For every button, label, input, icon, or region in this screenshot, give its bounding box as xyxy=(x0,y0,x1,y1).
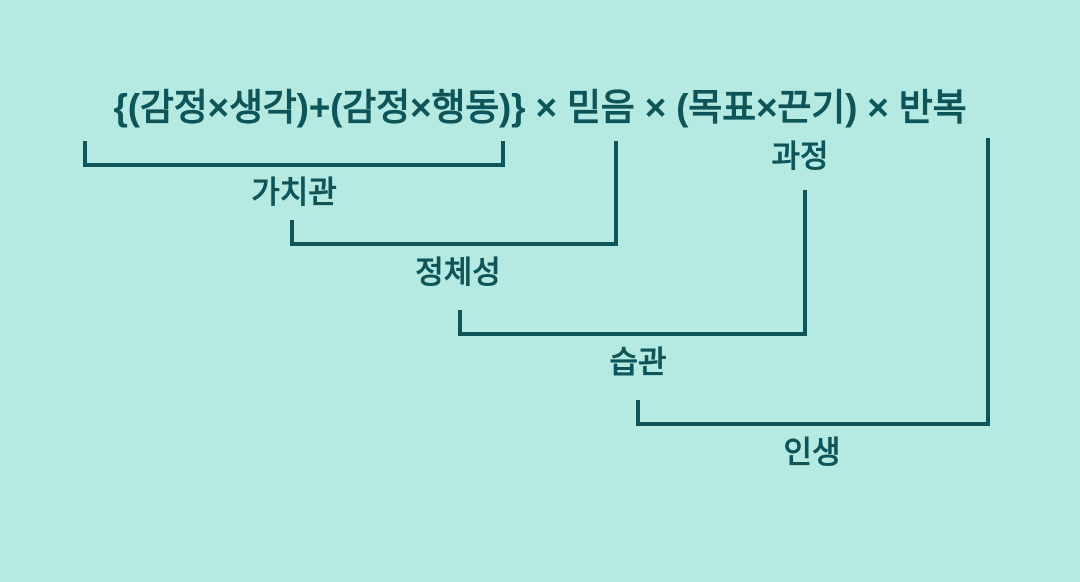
node-label-jeongcheseong: 정체성 xyxy=(415,256,501,290)
node-label-gwajeong: 과정 xyxy=(771,140,828,174)
bracket-lines-layer xyxy=(0,0,1080,582)
bracket-jeongcheseong xyxy=(292,143,616,244)
bracket-insaeng xyxy=(638,140,988,424)
node-label-insaeng: 인생 xyxy=(783,436,840,470)
bracket-seupgwan xyxy=(460,192,805,334)
node-label-seupgwan: 습관 xyxy=(609,346,666,380)
node-label-gachigwan: 가치관 xyxy=(251,176,337,210)
diagram-canvas: {(감정×생각)+(감정×행동)} × 믿음 × (목표×끈기) × 반복 과정… xyxy=(0,0,1080,582)
bracket-gachigwan xyxy=(85,143,503,165)
